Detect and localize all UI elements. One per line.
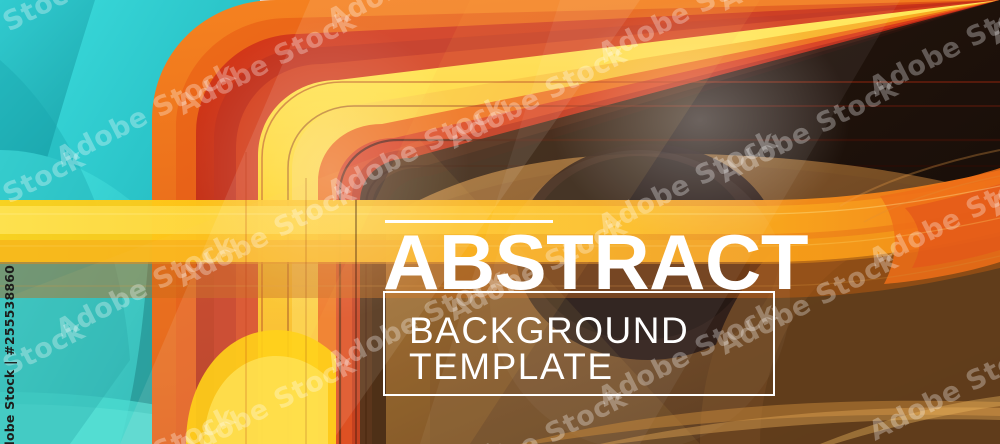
subtitle-line-1: BACKGROUND bbox=[409, 312, 689, 350]
screenshot-canvas: ABSTRACT BACKGROUND TEMPLATE Adobe Stock… bbox=[0, 0, 1000, 444]
subtitle-line-2: TEMPLATE bbox=[409, 348, 614, 386]
text-block: ABSTRACT BACKGROUND TEMPLATE bbox=[383, 215, 779, 399]
